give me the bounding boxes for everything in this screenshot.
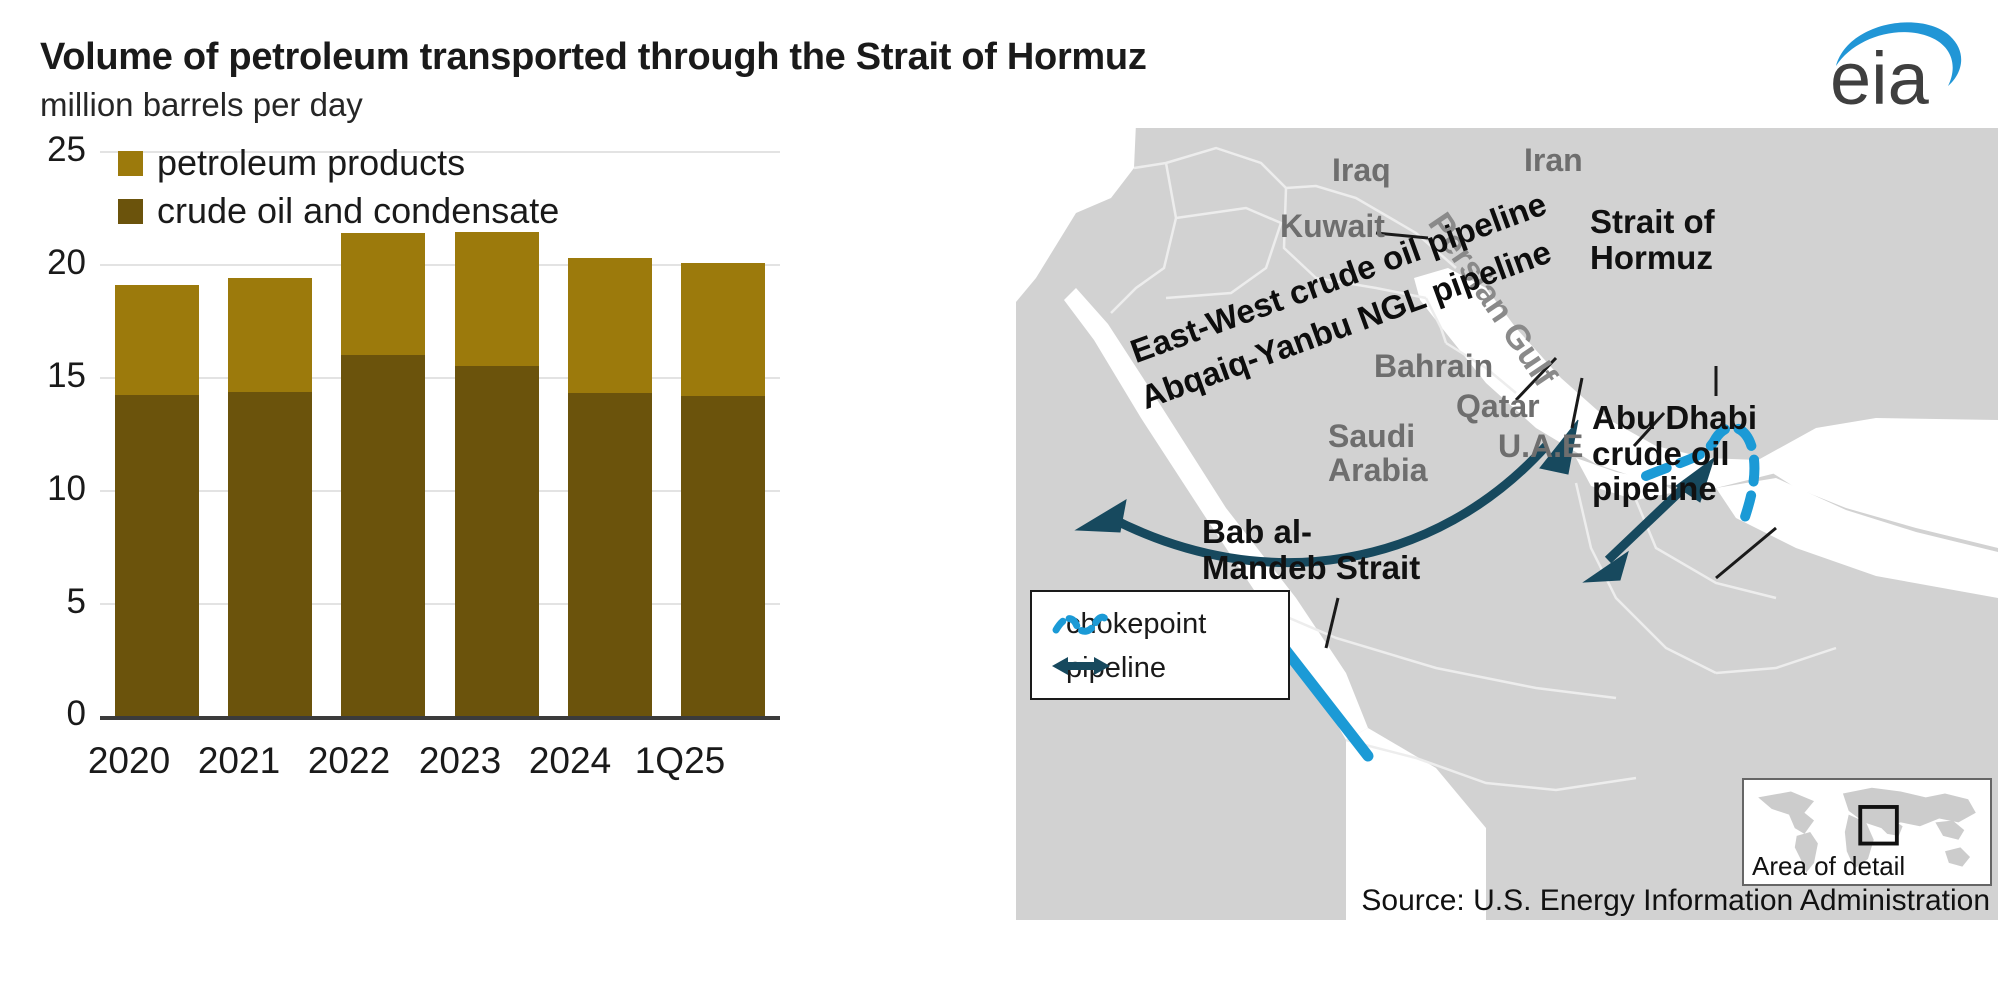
legend-label-crude-oil: crude oil and condensate (157, 190, 559, 232)
inset-caption: Area of detail (1752, 851, 1905, 882)
eia-logo: eia (1826, 8, 1986, 108)
abu-dhabi-line3: pipeline (1592, 470, 1717, 507)
legend-item-crude-oil: crude oil and condensate (118, 190, 559, 232)
map-label-iraq: Iraq (1332, 154, 1391, 188)
bab-al-mandeb-line2: Mandeb Strait (1202, 549, 1420, 586)
bar-segment-crude-2022 (341, 355, 425, 716)
bar-group-2021 (228, 278, 312, 716)
eia-logo-text: eia (1830, 37, 1930, 108)
bar-group-2022 (341, 233, 425, 716)
bar-segment-products-2024 (568, 258, 652, 393)
map-label-uae: U.A.E (1498, 430, 1583, 464)
x-label-1q25: 1Q25 (620, 740, 740, 782)
strait-of-hormuz-line2: Hormuz (1590, 239, 1713, 276)
strait-of-hormuz-line1: Strait of (1590, 203, 1715, 240)
bar-segment-products-2022 (341, 233, 425, 355)
map-legend-item-chokepoint: chokepoint (1050, 608, 1206, 641)
bar-segment-products-1q25 (681, 263, 765, 396)
x-label-2023: 2023 (400, 740, 520, 782)
page-title: Volume of petroleum transported through … (40, 36, 1147, 79)
map-label-saudi-line2: Arabia (1328, 452, 1428, 488)
y-tick-5: 5 (12, 582, 86, 622)
map-legend-item-pipeline: pipeline (1050, 652, 1166, 685)
map-callout-bab-al-mandeb: Bab al- Mandeb Strait (1202, 514, 1420, 585)
pipeline-icon (1050, 652, 1112, 680)
regional-map: Iraq Iran Kuwait Bahrain Qatar U.A.E Sau… (1016, 128, 1998, 920)
map-label-iran: Iran (1524, 144, 1583, 178)
infographic-root: Volume of petroleum transported through … (0, 0, 1998, 1007)
bar-segment-crude-1q25 (681, 396, 765, 716)
chart-legend: petroleum products crude oil and condens… (118, 142, 559, 238)
x-label-2022: 2022 (289, 740, 409, 782)
map-callout-strait-of-hormuz: Strait of Hormuz (1590, 204, 1715, 275)
x-label-2024: 2024 (510, 740, 630, 782)
x-axis-line (100, 716, 780, 720)
x-label-2020: 2020 (69, 740, 189, 782)
map-legend: chokepoint pipeline (1030, 590, 1290, 700)
bar-segment-crude-2020 (115, 395, 199, 716)
map-label-saudi-line1: Saudi (1328, 418, 1415, 454)
stacked-bar-chart: 25 20 15 10 5 0 petroleum products crude… (0, 120, 800, 1000)
y-tick-25: 25 (12, 130, 86, 170)
bab-al-mandeb-line1: Bab al- (1202, 513, 1312, 550)
y-axis-ticks: 25 20 15 10 5 0 (0, 120, 86, 740)
bar-segment-products-2021 (228, 278, 312, 392)
y-tick-10: 10 (12, 469, 86, 509)
source-text: Source: U.S. Energy Information Administ… (1361, 884, 1990, 918)
legend-item-petroleum-products: petroleum products (118, 142, 559, 184)
chokepoint-icon (1050, 608, 1112, 638)
page-subtitle: million barrels per day (40, 86, 363, 124)
map-label-kuwait: Kuwait (1280, 210, 1385, 244)
bar-group-1q25 (681, 263, 765, 716)
y-tick-20: 20 (12, 243, 86, 283)
y-tick-15: 15 (12, 356, 86, 396)
bar-group-2024 (568, 258, 652, 716)
y-tick-0: 0 (12, 694, 86, 734)
map-label-saudi-arabia: Saudi Arabia (1328, 420, 1428, 487)
bar-segment-crude-2023 (455, 366, 539, 716)
bar-group-2020 (115, 285, 199, 716)
inset-world-map: Area of detail (1742, 778, 1992, 886)
map-callout-abu-dhabi-pipeline: Abu Dhabi crude oil pipeline (1592, 400, 1757, 507)
bar-segment-crude-2021 (228, 392, 312, 716)
legend-label-petroleum-products: petroleum products (157, 142, 465, 184)
bar-group-2023 (455, 232, 539, 716)
x-label-2021: 2021 (179, 740, 299, 782)
abu-dhabi-line1: Abu Dhabi (1592, 399, 1757, 436)
bar-segment-products-2023 (455, 232, 539, 366)
legend-swatch-crude-oil (118, 199, 143, 224)
eia-logo-icon: eia (1826, 8, 1986, 108)
bar-segment-products-2020 (115, 285, 199, 394)
bar-segment-crude-2024 (568, 393, 652, 716)
map-label-qatar: Qatar (1456, 390, 1540, 424)
map-label-bahrain: Bahrain (1374, 350, 1493, 384)
abu-dhabi-line2: crude oil (1592, 435, 1730, 472)
legend-swatch-petroleum-products (118, 151, 143, 176)
